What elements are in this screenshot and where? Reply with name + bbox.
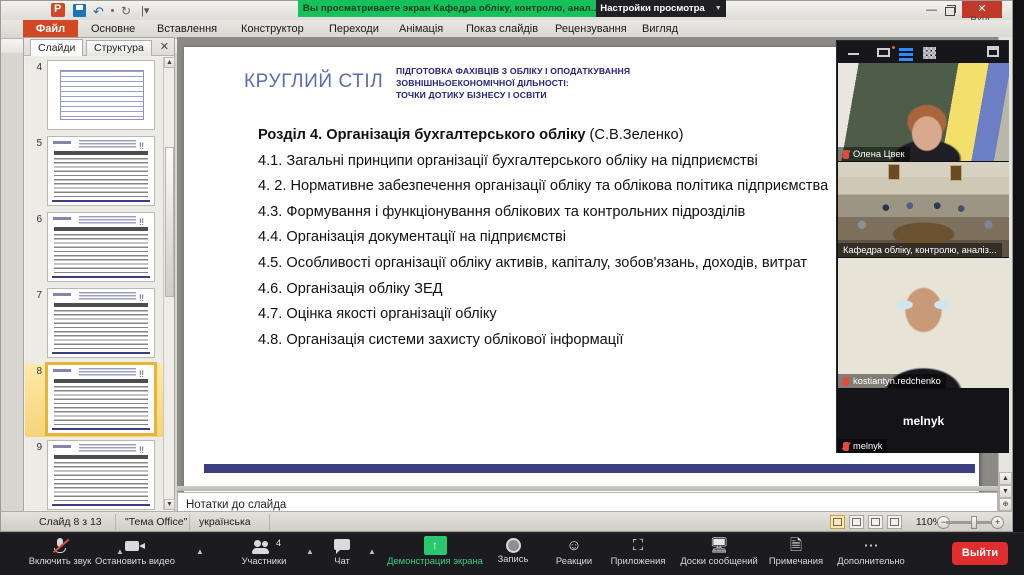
slide-thumbnail-preview[interactable]	[47, 212, 155, 282]
camera-icon	[124, 536, 146, 555]
screen-root: — ✕ Вхід ▽ ? ФайлОсновнеВставленняКонстр…	[0, 0, 1024, 575]
thumbnail-body-graphic	[54, 234, 148, 273]
video-tile[interactable]: kostiantyn.redchenko	[838, 258, 1009, 388]
close-pane-icon[interactable]: ✕	[160, 40, 169, 53]
slide-title[interactable]: КРУГЛИЙ СТІЛ	[244, 71, 383, 93]
slide-thumbnail-6[interactable]: 6	[25, 212, 166, 285]
zoom-toolbar-chat[interactable]: Чат	[322, 536, 362, 566]
slide-thumbnail-number: 9	[28, 442, 42, 453]
participants-count: 4	[276, 538, 281, 548]
thumbnail-header-graphic	[53, 216, 150, 225]
language-label[interactable]: українська	[199, 516, 251, 528]
thumbnail-rule-graphic	[52, 200, 150, 203]
thumbnail-title-graphic	[54, 303, 148, 307]
thumbnail-rule-graphic	[52, 504, 150, 507]
zoom-toolbar-participants[interactable]: 4Участники	[228, 536, 300, 566]
muted-mic-icon	[843, 442, 849, 451]
slide-heading-title: Розділ 4. Організація бухгалтерського об…	[258, 127, 585, 143]
video-panel-toolbar	[837, 41, 1008, 63]
single-speaker-view-icon[interactable]	[877, 48, 890, 57]
muted-mic-icon	[843, 150, 849, 159]
chat-icon	[333, 536, 351, 555]
slideshow-icon[interactable]	[887, 515, 902, 529]
chevron-up-icon[interactable]: ▲	[196, 547, 204, 556]
chevron-up-icon[interactable]: ▲	[306, 547, 314, 556]
video-tile[interactable]: Кафедра обліку, контролю, аналіз...	[838, 162, 1009, 257]
zoom-toolbar-more[interactable]: ⋯Дополнительно	[824, 536, 918, 566]
slide-thumbnail-number: 7	[28, 290, 42, 301]
slide-thumbnail-preview[interactable]	[47, 440, 155, 510]
view-buttons[interactable]	[830, 515, 902, 529]
status-bar: Слайд 8 з 13 "Тема Office" українська 11…	[1, 511, 1012, 531]
zoom-meeting-window: — ✕ Вхід ▽ ? ФайлОсновнеВставленняКонстр…	[0, 0, 1024, 575]
tab-outline[interactable]: Структура	[86, 40, 152, 56]
leave-meeting-button[interactable]: Выйти	[952, 542, 1008, 565]
chevron-down-icon: ▼	[715, 5, 722, 12]
slide-thumbnail-4[interactable]: 4	[25, 60, 166, 133]
slide-subtitle[interactable]: ПІДГОТОВКА ФАХІВЦІВ З ОБЛІКУ І ОПОДАТКУВ…	[396, 65, 796, 102]
share-settings-button[interactable]: Настройки просмотра ▼	[596, 0, 726, 17]
zoom-toolbar-label: Реакции	[545, 555, 603, 566]
thumbnail-logo-icon	[139, 369, 147, 377]
thumbnail-body-graphic	[54, 310, 148, 349]
more-icon: ⋯	[824, 536, 918, 555]
slides-thumbnail-pane: Слайди Структура ✕ 456789 ▲ ▼	[23, 37, 175, 512]
slide-thumbnail-preview[interactable]	[47, 60, 155, 130]
thumbnail-rule-graphic	[52, 428, 150, 431]
slide-thumbnail-preview[interactable]	[47, 288, 155, 358]
zoom-toolbar-label: Участники	[228, 555, 300, 566]
thumbnail-body-graphic	[54, 158, 148, 197]
zoom-toolbar-reactions[interactable]: ☺Реакции	[545, 536, 603, 566]
video-tile[interactable]: melnyk melnyk	[838, 389, 1009, 453]
thumbnail-rule-graphic	[52, 352, 150, 355]
scrollbar-thumb[interactable]	[165, 147, 174, 297]
zoom-toolbar-label: Дополнительно	[824, 555, 918, 566]
pane-tab-strip: Слайди Структура ✕	[24, 38, 174, 56]
slide-thumbnail-number: 4	[28, 62, 42, 73]
participant-video-feed	[838, 258, 1009, 388]
share-screen-icon	[424, 536, 447, 555]
slide-thumbnail-7[interactable]: 7	[25, 288, 166, 361]
thumbnail-scrollbar[interactable]: ▲ ▼	[163, 57, 174, 510]
mic-muted-icon	[52, 536, 68, 555]
video-tile[interactable]: Олена Цвек	[838, 63, 1009, 161]
redo-icon[interactable]	[121, 4, 134, 17]
undo-dropdown-icon[interactable]	[111, 9, 114, 12]
slide-thumbnail-8[interactable]: 8	[25, 364, 166, 437]
theme-name[interactable]: "Тема Office"	[125, 516, 187, 528]
slide-thumbnail-9[interactable]: 9	[25, 440, 166, 510]
previous-slide-button[interactable]: ▲	[999, 472, 1012, 485]
select-object-button[interactable]: ⊕	[999, 498, 1012, 511]
restore-button[interactable]	[943, 4, 956, 16]
slide-sorter-icon[interactable]	[849, 515, 864, 529]
scroll-down-icon[interactable]: ▼	[164, 499, 175, 510]
zoom-toolbar-share[interactable]: Демонстрация экрана	[374, 536, 496, 566]
participant-name-badge: kostiantyn.redchenko	[838, 374, 946, 388]
customize-quick-access-icon[interactable]	[141, 4, 154, 17]
slide-counter[interactable]: Слайд 8 з 13	[39, 516, 102, 528]
thumbnail-header-graphic	[53, 368, 150, 377]
minimize-button[interactable]: —	[925, 4, 938, 16]
screen-share-banner: Вы просматриваете экран Кафедра обліку, …	[298, 0, 604, 17]
reactions-icon: ☺	[545, 536, 603, 555]
notes-placeholder: Нотатки до слайда	[186, 499, 286, 511]
thumbnail-body-graphic	[54, 462, 148, 501]
popout-icon[interactable]	[987, 46, 999, 57]
split-view-icon[interactable]	[899, 48, 913, 58]
slide-heading-author: (С.В.Зеленко)	[585, 127, 683, 143]
zoom-slider-knob[interactable]	[971, 516, 977, 529]
save-icon[interactable]	[73, 4, 86, 17]
reading-view-icon[interactable]	[868, 515, 883, 529]
undo-icon[interactable]	[93, 4, 106, 17]
scroll-up-icon[interactable]: ▲	[164, 57, 175, 68]
thumbnail-logo-icon	[139, 141, 147, 149]
minimize-icon[interactable]	[848, 53, 859, 55]
notes-splitter[interactable]	[177, 486, 998, 491]
thumbnail-header-graphic	[53, 140, 150, 149]
thumbnail-title-graphic	[54, 379, 148, 383]
zoom-in-button[interactable]: +	[991, 516, 1004, 529]
thumbnail-body-graphic	[54, 386, 148, 425]
thumbnail-header-graphic	[53, 444, 150, 453]
thumbnail-list[interactable]: 456789	[25, 57, 166, 510]
zoom-toolbar-record[interactable]: Запись	[488, 536, 538, 564]
thumbnail-header-graphic	[53, 292, 150, 301]
participants-icon	[251, 536, 277, 555]
slide-thumbnail-number: 5	[28, 138, 42, 149]
muted-mic-icon	[843, 377, 849, 386]
subtitle-line: ПІДГОТОВКА ФАХІВЦІВ З ОБЛІКУ І ОПОДАТКУВ…	[396, 65, 796, 77]
zoom-toolbar-label: Остановить видео	[80, 555, 190, 566]
thumbnail-table-graphic	[60, 70, 144, 120]
thumbnail-logo-icon	[139, 445, 147, 453]
normal-view-icon[interactable]	[830, 515, 845, 529]
thumbnail-rule-graphic	[52, 276, 150, 279]
participant-name-badge: Олена Цвек	[838, 147, 910, 161]
slide-thumbnail-preview[interactable]	[45, 362, 157, 436]
record-icon	[506, 538, 521, 553]
slide-thumbnail-number: 6	[28, 214, 42, 225]
zoom-toolbar-label: Запись	[488, 553, 538, 564]
thumbnail-title-graphic	[54, 151, 148, 155]
zoom-toolbar-video[interactable]: Остановить видео	[80, 536, 190, 566]
thumbnail-title-graphic	[54, 455, 148, 459]
slide-thumbnail-5[interactable]: 5	[25, 136, 166, 209]
tab-slides[interactable]: Слайди	[30, 39, 83, 56]
subtitle-line: ЗОВНІШНЬОЕКОНОМІЧНОЇ ДІЛЬНОСТІ:	[396, 77, 796, 89]
gallery-view-icon[interactable]	[923, 47, 936, 59]
share-settings-label: Настройки просмотра	[600, 3, 705, 14]
participant-name-badge: melnyk	[838, 439, 887, 453]
slide-thumbnail-number: 8	[28, 366, 42, 377]
slide-decoration-rule	[204, 464, 975, 473]
view-indicator-dot-icon	[892, 46, 895, 49]
powerpoint-logo-icon	[51, 3, 65, 17]
participant-name: Олена Цвек	[853, 149, 905, 159]
zoom-toolbar-label: Демонстрация экрана	[374, 555, 496, 566]
participant-name: melnyk	[853, 441, 882, 451]
participant-name: Кафедра обліку, контролю, аналіз...	[843, 245, 997, 255]
zoom-meeting-toolbar: Выйти Включить звук▲Остановить видео▲4Уч…	[0, 532, 1024, 575]
thumbnail-logo-icon	[139, 217, 147, 225]
video-panel: Олена Цвек Кафедра обліку, контролю, ана…	[836, 40, 1009, 453]
participant-name: kostiantyn.redchenko	[853, 376, 941, 386]
next-slide-button[interactable]: ▼	[999, 485, 1012, 498]
subtitle-line: ТОЧКИ ДОТИКУ БІЗНЕСУ І ОСВІТИ	[396, 89, 796, 101]
slide-thumbnail-preview[interactable]	[47, 136, 155, 206]
thumbnail-title-graphic	[54, 227, 148, 231]
zoom-toolbar-label: Чат	[322, 555, 362, 566]
thumbnail-logo-icon	[139, 293, 147, 301]
participant-name-badge: Кафедра обліку, контролю, аналіз...	[838, 243, 1002, 257]
